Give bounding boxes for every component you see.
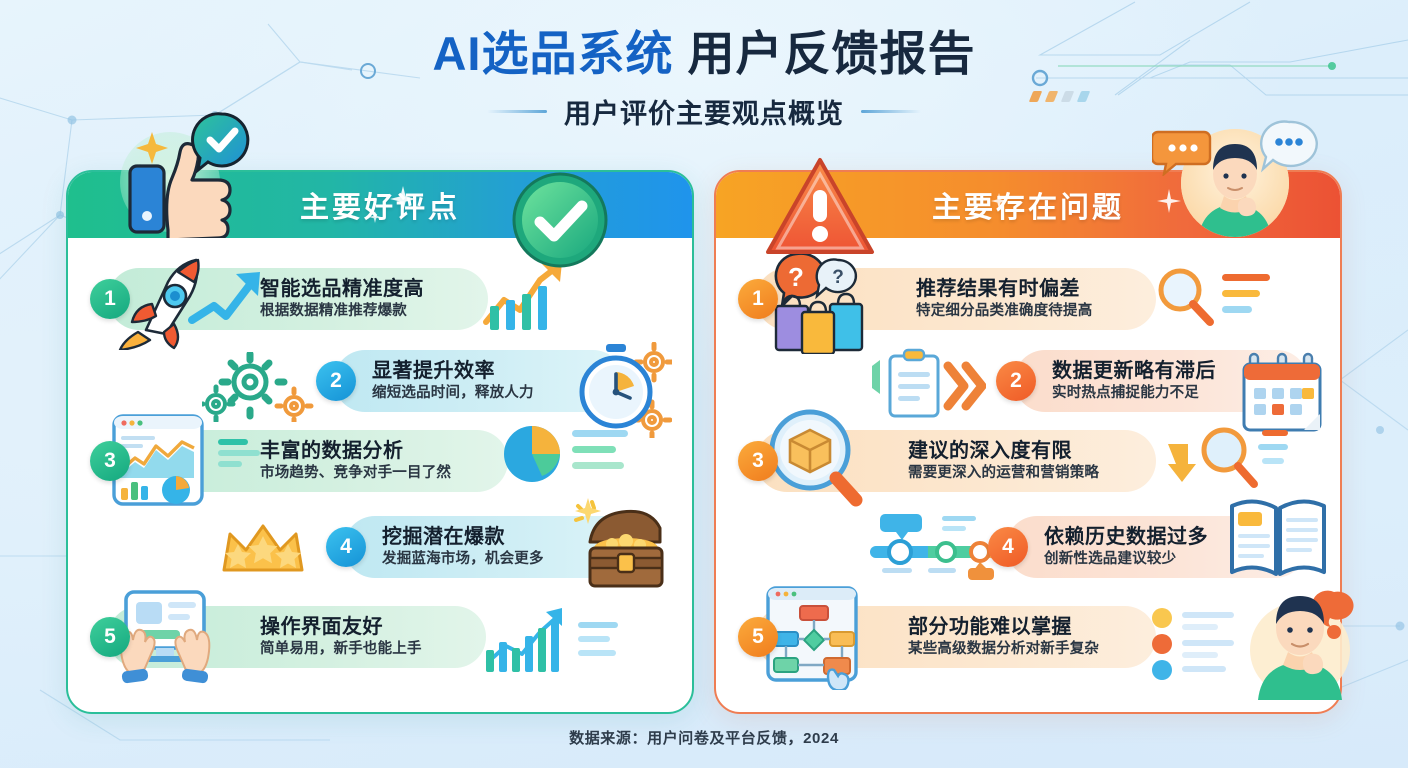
pros-item-3[interactable]: 3 丰富的数据分析 市场趋势、竞争对手一目了然 [90, 430, 508, 492]
cons-item-4-subtitle: 创新性选品建议较少 [1044, 551, 1284, 568]
pros-item-5-badge: 5 [90, 617, 130, 657]
cons-item-1-badge: 1 [738, 279, 778, 319]
cons-item-2-subtitle: 实时热点捕捉能力不足 [1052, 385, 1286, 402]
page-title: AI选品系统 用户反馈报告 [0, 26, 1408, 81]
pros-card-header: 主要好评点 [68, 172, 692, 238]
pros-item-4-title: 挖掘潜在爆款 [382, 526, 632, 548]
clipboard-fastforward-icon [866, 348, 986, 422]
cons-card-header: 主要存在问题 [716, 172, 1340, 238]
pros-item-3-title: 丰富的数据分析 [260, 440, 486, 462]
cons-card-body: 1 推荐结果有时偏差 特定细分品类准确度待提高 2 数据更新略有滞后 实时热点捕… [716, 238, 1340, 714]
cons-item-4[interactable]: 4 依赖历史数据过多 创新性选品建议较少 [988, 516, 1306, 578]
page-title-accent: AI选品系统 [432, 27, 673, 80]
subtitle-rule-left [487, 110, 547, 113]
cons-item-1-subtitle: 特定细分品类准确度待提高 [916, 303, 1134, 320]
pros-item-4-subtitle: 发掘蓝海市场，机会更多 [382, 551, 632, 568]
pros-card: 主要好评点 1 智能选品精准度高 根据数据精准推荐爆款 2 显著提 [66, 170, 694, 714]
sparkle-small-icon [990, 192, 1008, 210]
pros-item-4[interactable]: 4 挖掘潜在爆款 发掘蓝海市场，机会更多 [326, 516, 654, 578]
cons-item-3-badge: 3 [738, 441, 778, 481]
cons-item-5-pill: 部分功能难以掌握 某些高级数据分析对新手复杂 [756, 606, 1156, 668]
pros-item-4-badge: 4 [326, 527, 366, 567]
sparkle-icon [1156, 188, 1182, 214]
pros-item-5-title: 操作界面友好 [260, 616, 464, 638]
gears-icon [202, 352, 314, 422]
pros-item-2[interactable]: 2 显著提升效率 缩短选品时间，释放人力 [316, 350, 624, 412]
page-title-main: 用户反馈报告 [688, 27, 976, 80]
cons-item-4-pill: 依赖历史数据过多 创新性选品建议较少 [1006, 516, 1306, 578]
cons-item-2-badge: 2 [996, 361, 1036, 401]
page-subtitle-row: 用户评价主要观点概览 [0, 92, 1408, 131]
pros-item-3-pill: 丰富的数据分析 市场趋势、竞争对手一目了然 [108, 430, 508, 492]
cons-item-2-title: 数据更新略有滞后 [1052, 360, 1286, 382]
subtitle-rule-right [861, 110, 921, 113]
magnifier-list-icon [1154, 262, 1274, 334]
cons-item-3-subtitle: 需要更深入的运营和营销策略 [908, 465, 1134, 482]
cons-card: 主要存在问题 1 推荐结果有时偏差 特定细分品类准确度待提高 2 [714, 170, 1342, 714]
pros-item-2-title: 显著提升效率 [372, 360, 602, 382]
pros-item-1-subtitle: 根据数据精准推荐爆款 [260, 303, 466, 320]
pros-item-1-pill: 智能选品精准度高 根据数据精准推荐爆款 [108, 268, 488, 330]
cons-item-5-badge: 5 [738, 617, 778, 657]
sparkle-icon [386, 182, 420, 216]
cons-item-5-title: 部分功能难以掌握 [908, 616, 1134, 638]
source-footer: 数据来源：用户问卷及平台反馈，2024 [0, 727, 1408, 748]
cons-item-1-pill: 推荐结果有时偏差 特定细分品类准确度待提高 [756, 268, 1156, 330]
pros-item-1[interactable]: 1 智能选品精准度高 根据数据精准推荐爆款 [90, 268, 488, 330]
cons-item-3-title: 建议的深入度有限 [908, 440, 1134, 462]
cons-heading: 主要存在问题 [932, 184, 1124, 226]
pros-item-2-pill: 显著提升效率 缩短选品时间，释放人力 [334, 350, 624, 412]
sparkle-small-icon [368, 210, 382, 224]
pros-card-body: 1 智能选品精准度高 根据数据精准推荐爆款 2 显著提升效率 缩短选品时间，释放… [68, 238, 692, 714]
cons-item-1-title: 推荐结果有时偏差 [916, 278, 1134, 300]
bar-growth-icon [482, 604, 622, 678]
pros-item-1-title: 智能选品精准度高 [260, 278, 466, 300]
cons-item-1[interactable]: 1 推荐结果有时偏差 特定细分品类准确度待提高 [738, 268, 1156, 330]
infographic-canvas: AI选品系统 用户反馈报告 用户评价主要观点概览 主要好评点 1 智能选品精准 [0, 0, 1408, 768]
cons-item-3-pill: 建议的深入度有限 需要更深入的运营和营销策略 [756, 430, 1156, 492]
pros-item-4-pill: 挖掘潜在爆款 发掘蓝海市场，机会更多 [344, 516, 654, 578]
pros-item-3-subtitle: 市场趋势、竞争对手一目了然 [260, 465, 486, 482]
cons-item-2-pill: 数据更新略有滞后 实时热点捕捉能力不足 [1014, 350, 1308, 412]
pros-item-1-badge: 1 [90, 279, 130, 319]
cons-item-4-title: 依赖历史数据过多 [1044, 526, 1284, 548]
cons-item-5-subtitle: 某些高级数据分析对新手复杂 [908, 641, 1134, 658]
speech-bubble-orange-icon [1152, 128, 1214, 176]
pros-item-5-pill: 操作界面友好 简单易用，新手也能上手 [108, 606, 486, 668]
pros-item-5-subtitle: 简单易用，新手也能上手 [260, 641, 464, 658]
cons-item-5[interactable]: 5 部分功能难以掌握 某些高级数据分析对新手复杂 [738, 606, 1156, 668]
pie-chart-icon [498, 418, 634, 490]
dots-list-icon [1150, 606, 1266, 682]
magnifier-down-icon [1162, 420, 1290, 494]
pros-item-5[interactable]: 5 操作界面友好 简单易用，新手也能上手 [90, 606, 486, 668]
crown-icon [220, 520, 306, 576]
growth-chart-icon [478, 260, 568, 336]
cons-item-2[interactable]: 2 数据更新略有滞后 实时热点捕捉能力不足 [996, 350, 1308, 412]
page-subtitle: 用户评价主要观点概览 [564, 92, 844, 131]
pros-item-3-badge: 3 [90, 441, 130, 481]
pros-item-2-badge: 2 [316, 361, 356, 401]
pros-item-2-subtitle: 缩短选品时间，释放人力 [372, 385, 602, 402]
page-header: AI选品系统 用户反馈报告 用户评价主要观点概览 [0, 26, 1408, 131]
cons-item-4-badge: 4 [988, 527, 1028, 567]
cons-item-3[interactable]: 3 建议的深入度有限 需要更深入的运营和营销策略 [738, 430, 1156, 492]
